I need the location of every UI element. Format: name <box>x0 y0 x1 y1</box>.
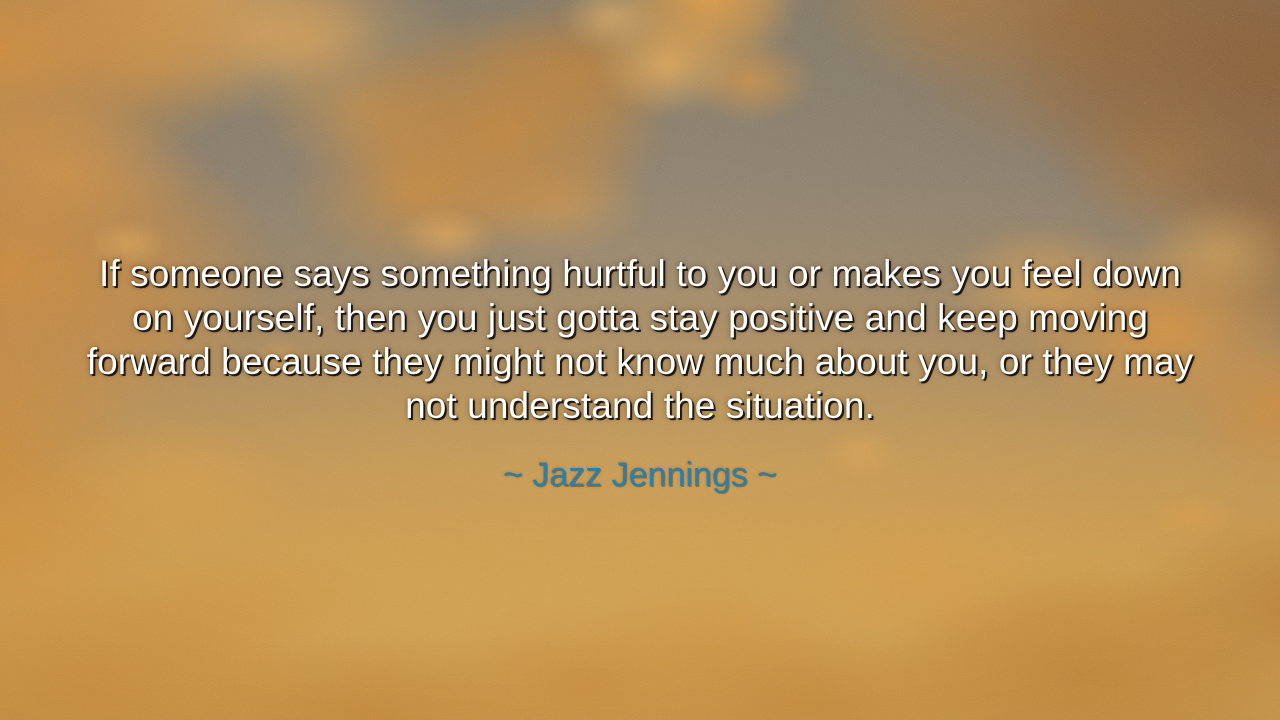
quote-card: If someone says something hurtful to you… <box>0 0 1280 720</box>
quote-block: If someone says something hurtful to you… <box>0 252 1280 495</box>
quote-line-4: not understand the situation. <box>40 384 1240 428</box>
quote-line-2: on yourself, then you just gotta stay po… <box>40 296 1240 340</box>
quote-attribution: ~ Jazz Jennings ~ <box>40 455 1240 495</box>
quote-line-1: If someone says something hurtful to you… <box>40 252 1240 296</box>
quote-line-3: forward because they might not know much… <box>40 340 1240 384</box>
